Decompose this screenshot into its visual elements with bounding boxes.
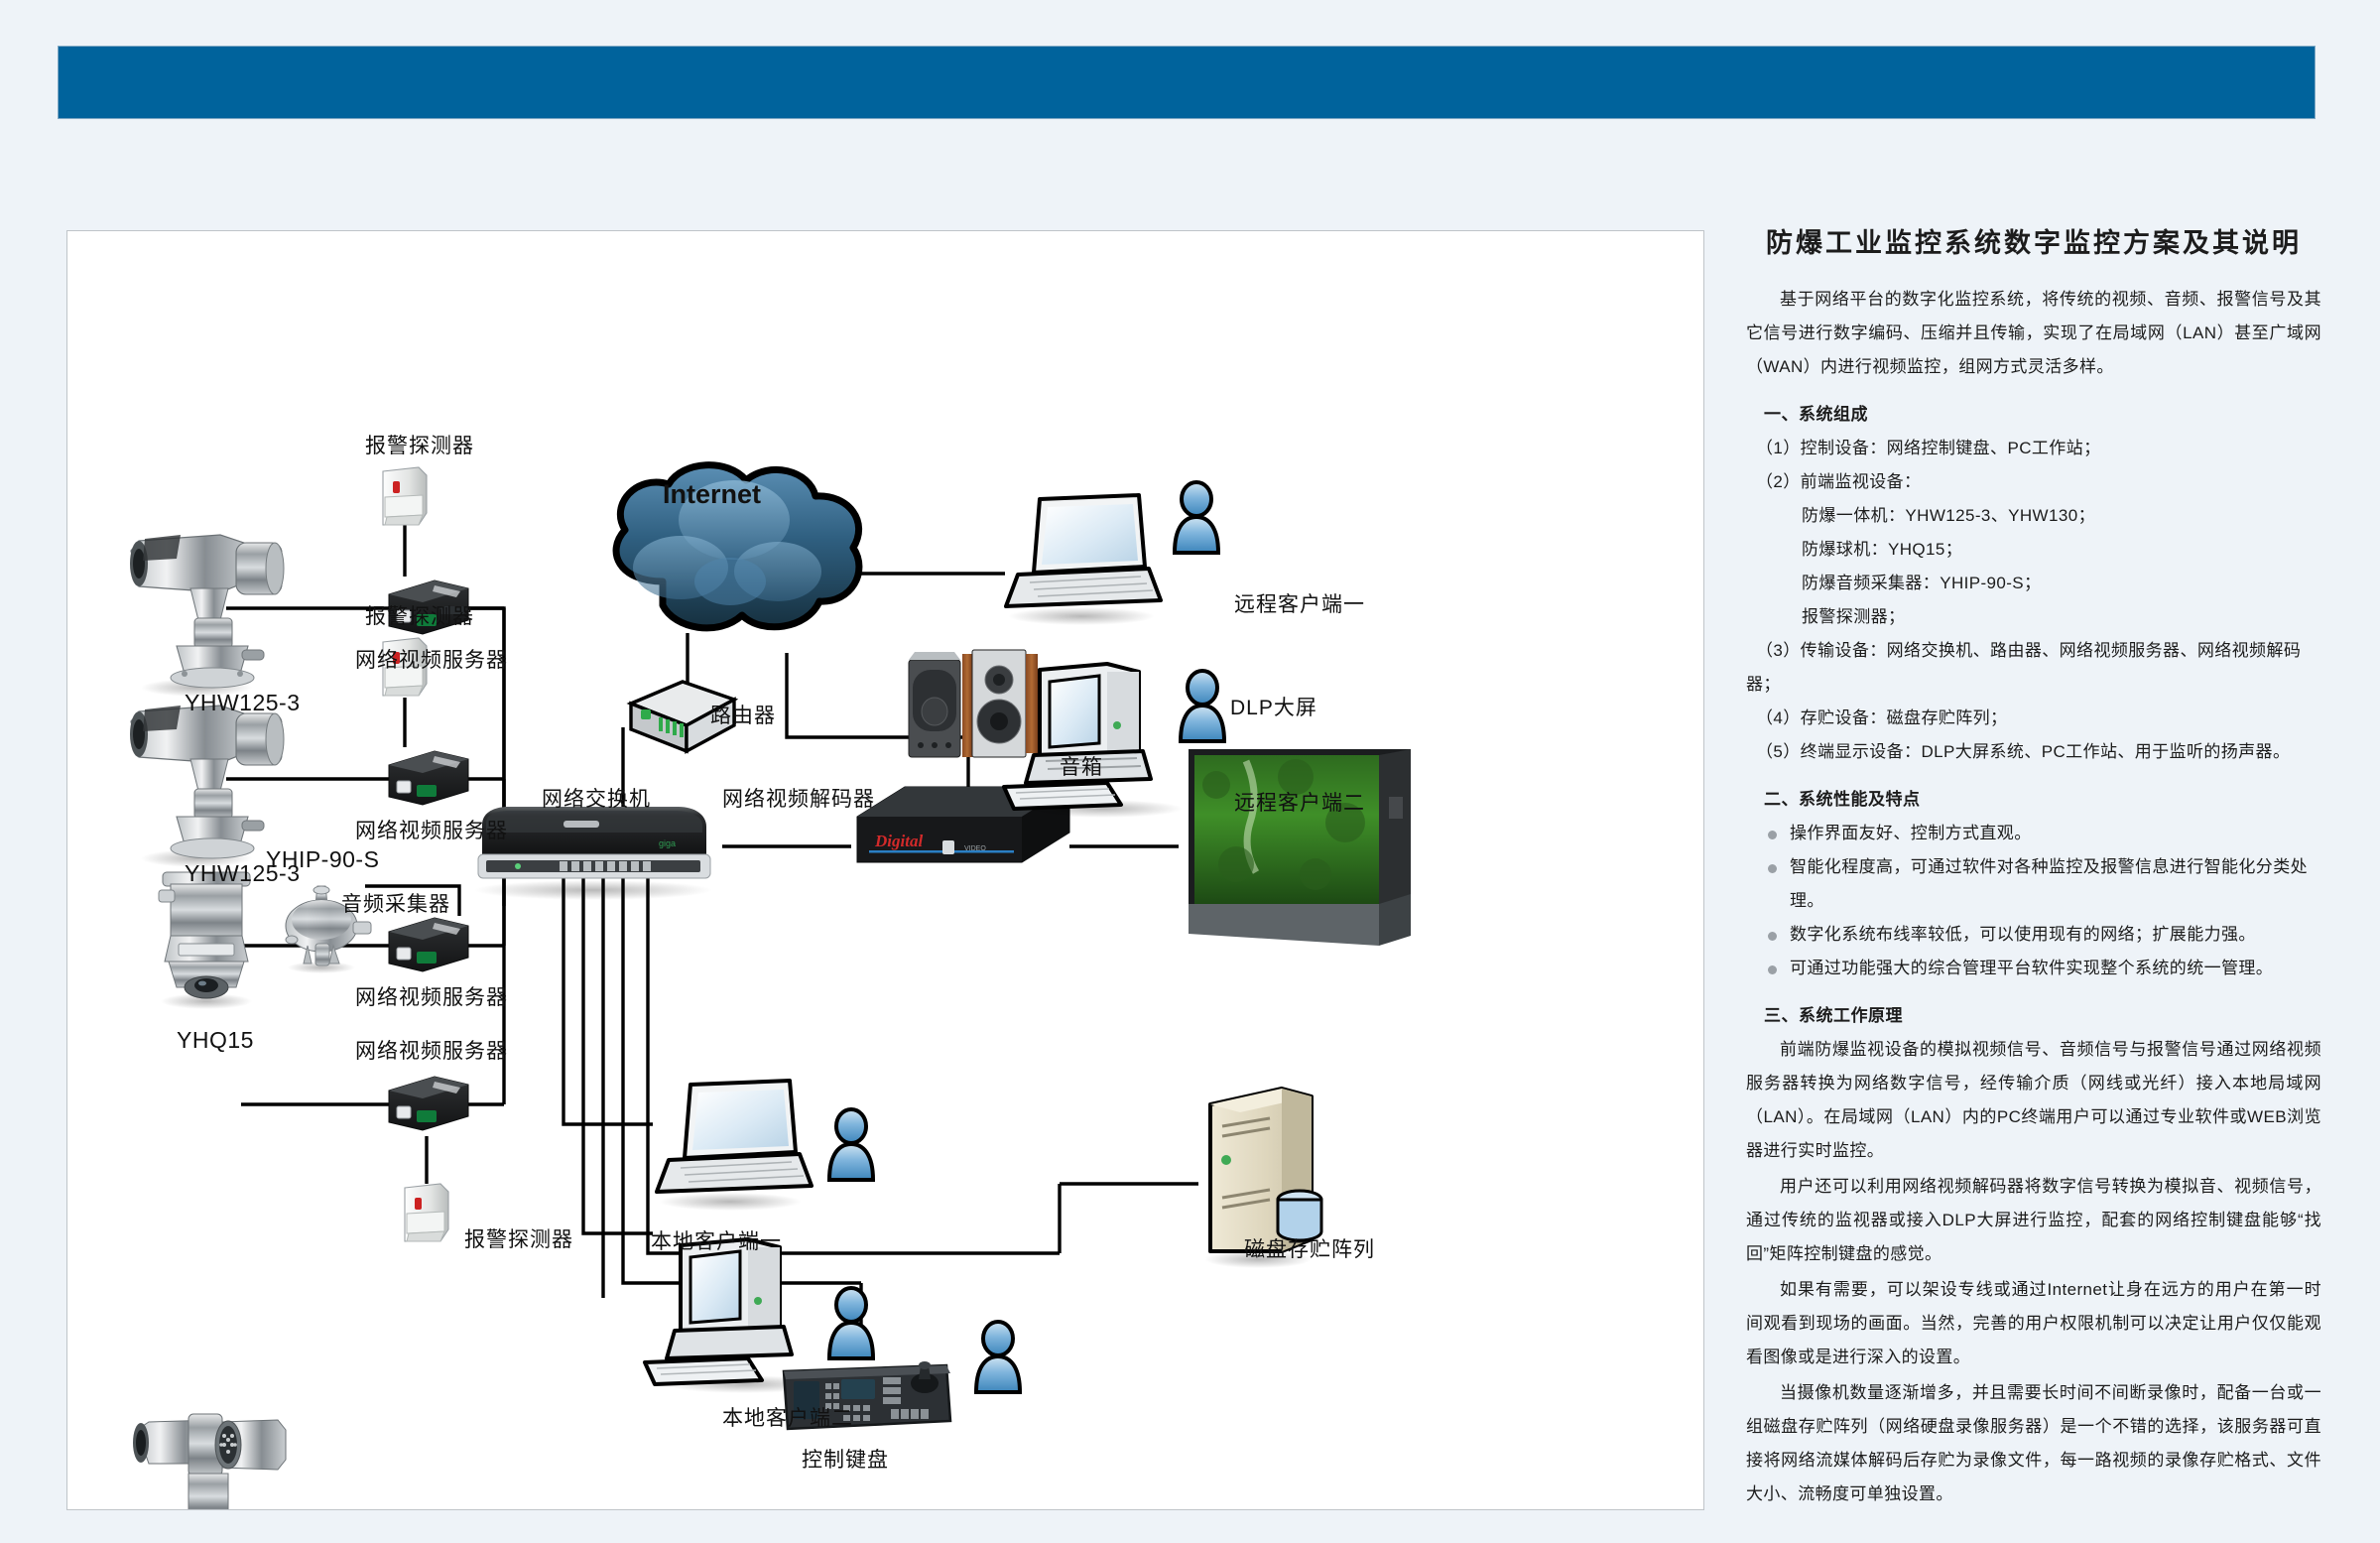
dlp-screen-label: DLP大屏 xyxy=(1230,692,1317,721)
svg-text:giga: giga xyxy=(659,838,676,848)
speaker-label: 音箱 xyxy=(1060,751,1103,781)
router-label: 路由器 xyxy=(710,700,776,729)
section-1-subitem-1: 防爆一体机：YHW125-3、YHW130； xyxy=(1746,499,2321,533)
section-3-paragraph-3: 如果有需要，可以架设专线或通过Internet让身在远方的用户在第一时间观看到现… xyxy=(1746,1273,2321,1374)
bullet-dot-icon xyxy=(1768,965,1777,974)
section-1-subitem-2: 防爆球机：YHQ15； xyxy=(1746,533,2321,567)
alarm-detector-1-icon xyxy=(383,467,427,525)
page-title: 防爆工业监控系统数字监控方案及其说明 xyxy=(1746,226,2321,261)
section-3-paragraph-4: 当摄像机数量逐渐增多，并且需要长时间不间断录像时，配备一台或一组磁盘存贮阵列（网… xyxy=(1746,1376,2321,1511)
alarm-detector-3-icon xyxy=(405,1184,448,1241)
section-3-paragraph-2: 用户还可以利用网络视频解码器将数字信号转换为模拟音、视频信号，通过传统的监视器或… xyxy=(1746,1170,2321,1271)
video-server-2-label: 网络视频服务器 xyxy=(355,815,508,844)
remote-client-1-icon xyxy=(1006,495,1161,625)
network-switch-label: 网络交换机 xyxy=(542,783,651,813)
bullet-dot-icon xyxy=(1768,932,1777,941)
user-avatar-local-1-icon xyxy=(829,1109,873,1180)
document-column: 防爆工业监控系统数字监控方案及其说明 基于网络平台的数字化监控系统，将传统的视频… xyxy=(1746,226,2321,1516)
section-1-item-5: （5）终端显示设备：DLP大屏系统、PC工作站、用于监听的扬声器。 xyxy=(1746,735,2321,769)
svg-text:VIDEO: VIDEO xyxy=(964,845,986,852)
control-keyboard-label: 控制键盘 xyxy=(802,1444,889,1474)
audio-collector-label: 音频采集器 xyxy=(341,888,450,918)
bullet-dot-icon xyxy=(1768,831,1777,839)
section-3-paragraph-1: 前端防爆监视设备的模拟视频信号、音频信号与报警信号通过网络视频服务器转换为网络数… xyxy=(1746,1033,2321,1168)
section-1-item-4: （4）存贮设备：磁盘存贮阵列； xyxy=(1746,702,2321,735)
camera-yhw125-3-b-icon xyxy=(130,706,284,867)
camera-yhq15-icon xyxy=(159,872,252,1009)
intro-paragraph: 基于网络平台的数字化监控系统，将传统的视频、音频、报警信号及其它信号进行数字编码… xyxy=(1746,283,2321,384)
section-2-bullet-1: 操作界面友好、控制方式直观。 xyxy=(1746,817,2321,850)
camera-yhw125-3-a-label: YHW125-3 xyxy=(185,690,300,716)
section-2-bullet-4-text: 可通过功能强大的综合管理平台软件实现整个系统的统一管理。 xyxy=(1790,959,2273,977)
alarm-detector-3-label: 报警探测器 xyxy=(464,1223,573,1253)
section-2-bullet-3: 数字化系统布线率较低，可以使用现有的网络；扩展能力强。 xyxy=(1746,918,2321,952)
decoder-brand-text: Digital xyxy=(874,832,923,850)
camera-yhq15-label: YHQ15 xyxy=(177,1027,254,1054)
section-2-bullet-2: 智能化程度高，可通过软件对各种监控及报警信息进行智能化分类处理。 xyxy=(1746,850,2321,918)
user-avatar-local-2-icon xyxy=(829,1288,873,1358)
audio-model-label: YHIP-90-S xyxy=(266,846,379,873)
remote-client-2-label: 远程客户端二 xyxy=(1234,787,1365,817)
section-1-item-1: （1）控制设备：网络控制键盘、PC工作站； xyxy=(1746,432,2321,465)
section-1-subitem-3: 防爆音频采集器：YHIP-90-S； xyxy=(1746,567,2321,600)
video-server-4-label: 网络视频服务器 xyxy=(355,1035,508,1065)
alarm-detector-1-label: 报警探测器 xyxy=(365,430,474,459)
section-2-bullet-1-text: 操作界面友好、控制方式直观。 xyxy=(1790,824,2032,842)
video-server-2-icon xyxy=(389,751,468,805)
section-3-heading: 三、系统工作原理 xyxy=(1746,999,2321,1033)
network-diagram-panel: giga Digital VIDEO Server xyxy=(66,230,1704,1510)
user-avatar-remote-2-icon xyxy=(1181,671,1224,741)
video-server-3-label: 网络视频服务器 xyxy=(355,981,508,1011)
section-1-heading: 一、系统组成 xyxy=(1746,398,2321,432)
video-server-4-icon xyxy=(389,1077,468,1130)
speaker-icon xyxy=(909,650,1038,757)
section-1-item-3: （3）传输设备：网络交换机、路由器、网络视频服务器、网络视频解码器； xyxy=(1746,634,2321,702)
camera-yhw125-3-a-icon xyxy=(130,535,284,697)
section-2-bullet-4: 可通过功能强大的综合管理平台软件实现整个系统的统一管理。 xyxy=(1746,952,2321,985)
dlp-screen-icon xyxy=(1189,749,1411,946)
storage-array-label: 磁盘存贮阵列 xyxy=(1244,1233,1375,1263)
alarm-detector-2-label: 报警探测器 xyxy=(365,600,474,630)
remote-client-1-label: 远程客户端一 xyxy=(1234,588,1365,618)
top-banner xyxy=(58,46,2316,119)
local-client-1-label: 本地客户端一 xyxy=(651,1225,782,1255)
network-switch-icon: giga xyxy=(474,807,712,900)
internet-label: Internet xyxy=(663,479,761,510)
user-avatar-remote-1-icon xyxy=(1175,482,1218,553)
section-1-item-2: （2）前端监视设备： xyxy=(1746,465,2321,499)
section-2-bullet-2-text: 智能化程度高，可通过软件对各种监控及报警信息进行智能化分类处理。 xyxy=(1790,857,2308,910)
section-2-heading: 二、系统性能及特点 xyxy=(1746,783,2321,817)
local-client-2-label: 本地客户端二 xyxy=(722,1402,853,1432)
video-decoder-label: 网络视频解码器 xyxy=(722,783,875,813)
local-client-1-icon xyxy=(657,1081,812,1211)
camera-yhw130-icon xyxy=(133,1414,286,1510)
video-server-1-label: 网络视频服务器 xyxy=(355,644,508,674)
section-1-subitem-4: 报警探测器； xyxy=(1746,600,2321,634)
section-2-bullet-3-text: 数字化系统布线率较低，可以使用现有的网络；扩展能力强。 xyxy=(1790,925,2256,944)
bullet-dot-icon xyxy=(1768,864,1777,873)
user-avatar-keyboard-icon xyxy=(976,1322,1020,1392)
video-server-3-icon xyxy=(389,918,468,971)
